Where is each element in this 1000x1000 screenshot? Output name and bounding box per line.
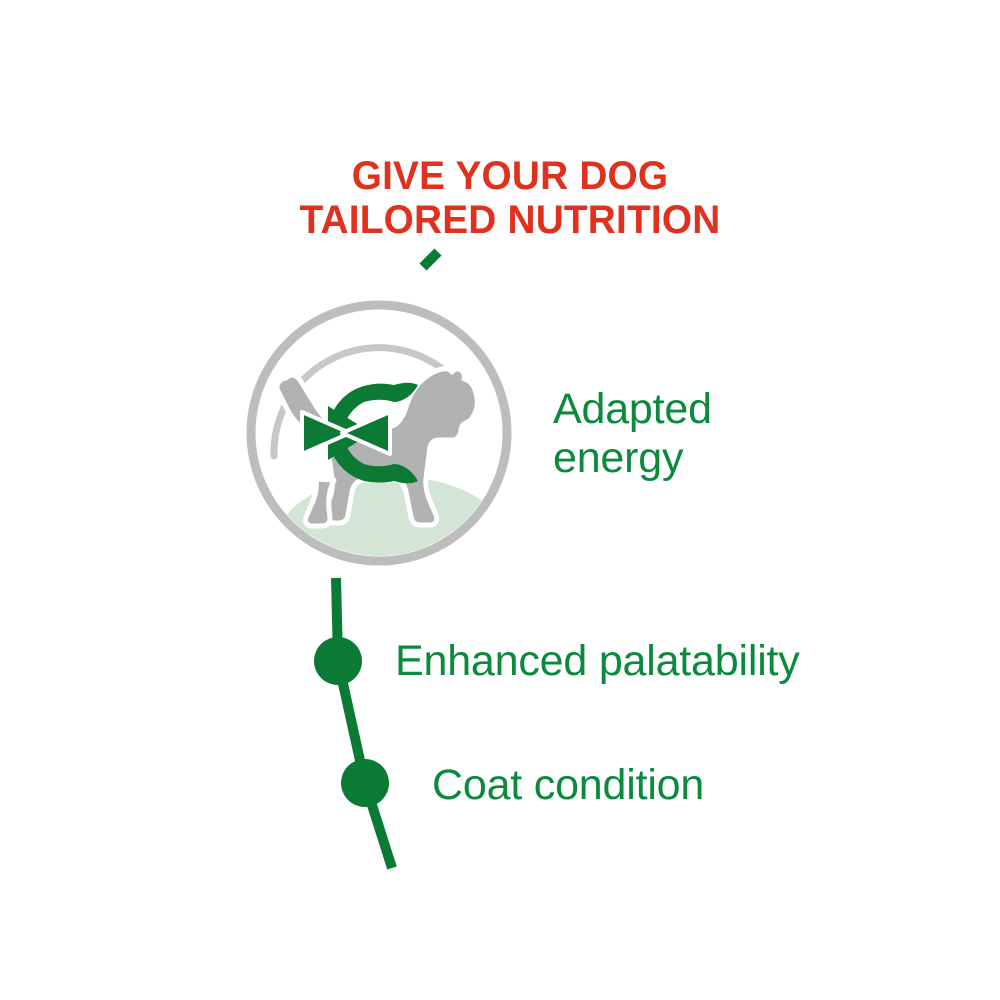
- benefit-label-enhanced-palatability: Enhanced palatability: [395, 637, 915, 686]
- headline-line-1: GIVE YOUR DOG: [209, 154, 810, 198]
- benefit-label-coat-condition: Coat condition: [432, 761, 852, 810]
- headline-line-2: TAILORED NUTRITION: [209, 198, 810, 242]
- page-title: GIVE YOUR DOG TAILORED NUTRITION: [209, 154, 810, 242]
- connector-dot-1: [314, 637, 362, 685]
- infographic-canvas: GIVE YOUR DOG TAILORED NUTRITION: [0, 0, 1000, 1000]
- connector-dot-2: [341, 759, 389, 807]
- benefit-label-adapted-energy: Adapted energy: [553, 385, 853, 483]
- connector-stub-top: [423, 252, 438, 267]
